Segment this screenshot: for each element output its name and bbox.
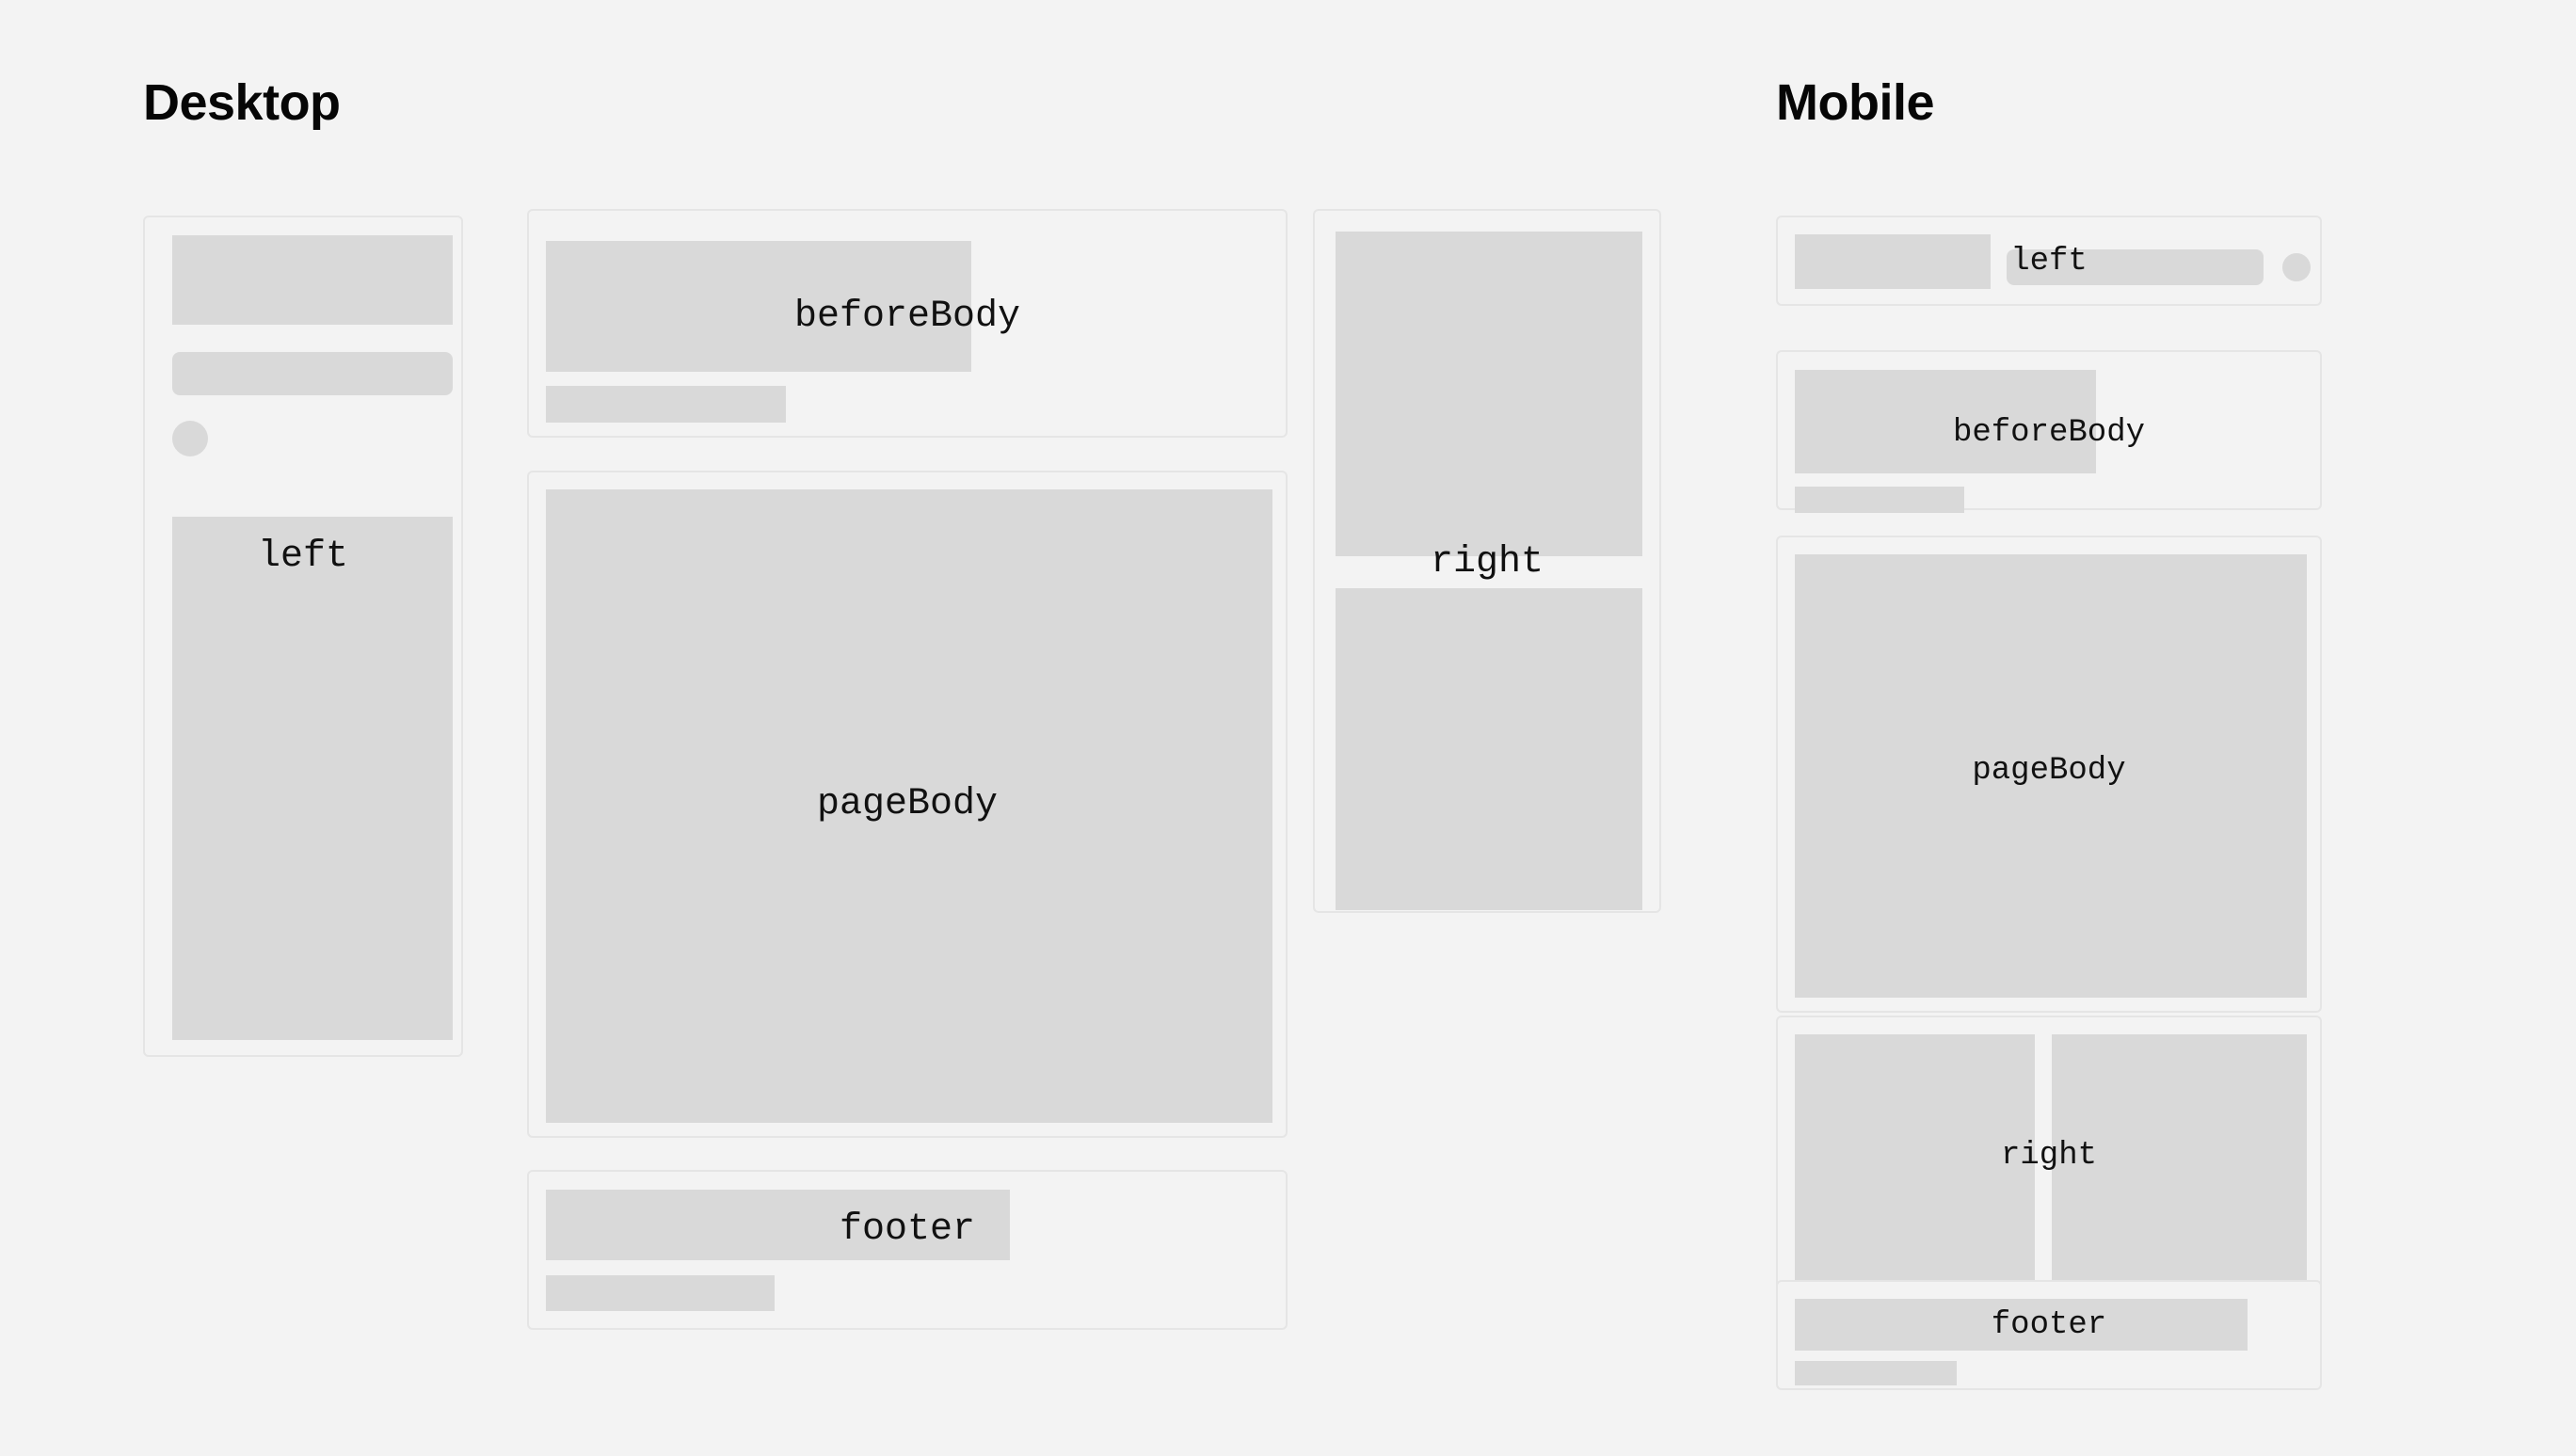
desktop-before-body-panel[interactable] [527, 209, 1288, 438]
desktop-right-panel[interactable] [1313, 209, 1661, 913]
desktop-left-panel[interactable] [143, 216, 463, 1057]
mobile-right-block-right-left [1795, 1034, 2035, 1280]
mobile-left-block-search-bar [2007, 249, 2264, 285]
desktop-left-block-header [172, 235, 453, 325]
mobile-left-panel[interactable] [1776, 216, 2322, 306]
desktop-right-block-right-bottom [1336, 588, 1642, 910]
mobile-left-block-avatar-dot [2282, 253, 2311, 281]
desktop-right-block-right-top [1336, 232, 1642, 556]
mobile-before-body-panel[interactable] [1776, 350, 2322, 510]
layout-preview-stage: Desktop left beforeBody pageBody footer … [0, 0, 2576, 1456]
mobile-footer-panel[interactable] [1776, 1280, 2322, 1390]
desktop-left-block-left-region [172, 517, 453, 1040]
mobile-left-block-header [1795, 234, 1991, 289]
desktop-footer-block-footer-caption [546, 1275, 775, 1311]
desktop-footer-panel[interactable] [527, 1170, 1288, 1330]
mobile-page-body-panel[interactable] [1776, 536, 2322, 1013]
desktop-left-block-avatar-dot [172, 421, 208, 456]
mobile-before-body-block-banner [1795, 370, 2096, 473]
mobile-footer-block-footer-caption [1795, 1361, 1957, 1385]
desktop-left-block-search-bar [172, 352, 453, 395]
desktop-footer-block-footer-bar [546, 1190, 1010, 1260]
desktop-before-body-block-banner [546, 241, 971, 372]
desktop-page-body-block-body-region [546, 489, 1272, 1123]
mobile-right-block-right-right [2052, 1034, 2307, 1280]
desktop-column-title: Desktop [143, 77, 341, 128]
mobile-right-panel[interactable] [1776, 1016, 2322, 1295]
mobile-footer-block-footer-bar [1795, 1299, 2248, 1351]
mobile-before-body-block-caption-bar [1795, 487, 1964, 513]
desktop-page-body-panel[interactable] [527, 471, 1288, 1138]
mobile-column-title: Mobile [1776, 77, 1934, 128]
mobile-page-body-block-body-region [1795, 554, 2307, 998]
desktop-before-body-block-caption-bar [546, 386, 786, 423]
